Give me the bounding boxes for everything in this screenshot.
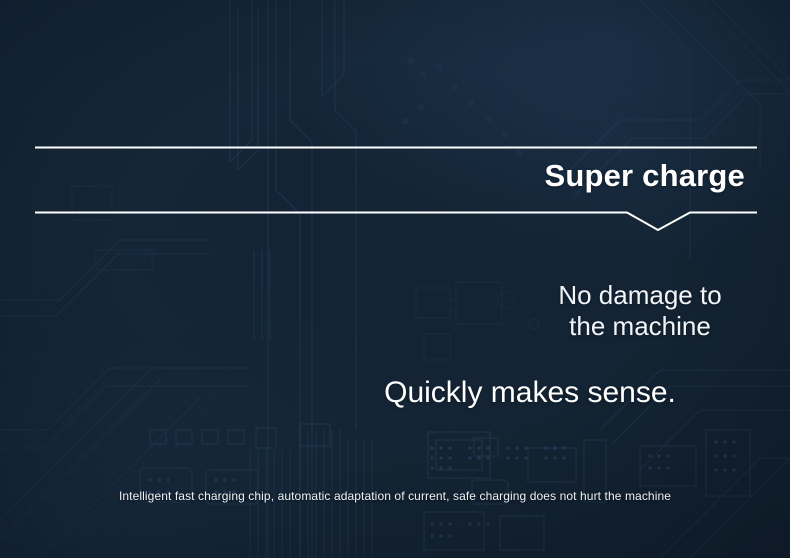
benefit-text-block: No damage to the machine [470, 280, 790, 342]
tagline-text: Quickly makes sense. [330, 375, 730, 411]
super-charge-banner: Super charge No damage to the machine Qu… [0, 0, 790, 558]
benefit-line-2: the machine [470, 311, 790, 342]
benefit-line-1: No damage to [558, 280, 721, 310]
caption-text: Intelligent fast charging chip, automati… [0, 488, 790, 505]
page-title: Super charge [0, 157, 745, 195]
circuit-board-pattern [0, 0, 790, 558]
